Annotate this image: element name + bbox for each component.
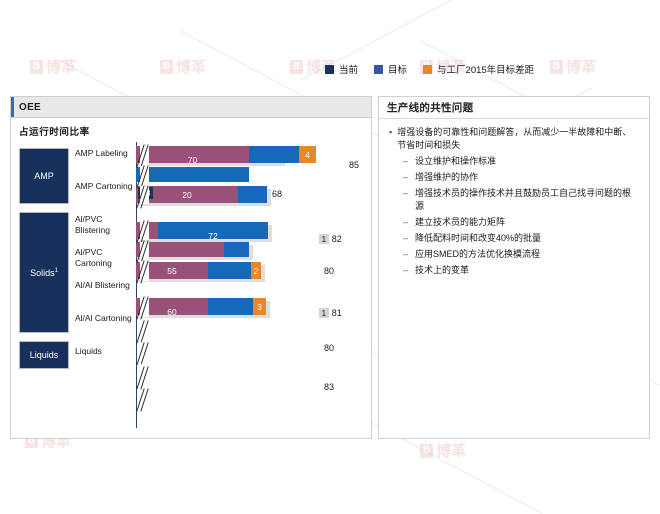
bullet-item-0: ▪ 增强设备的可靠性和问题解答，从而减少一半故障和中断、节省时间和损失 [389, 126, 639, 151]
bar-segment-target-2b [224, 242, 249, 257]
axis-break-8 [138, 344, 150, 364]
bar-total-value-6: 83 [324, 382, 334, 392]
category-label-0: AMP Labeling [75, 148, 133, 159]
legend-swatch-target [374, 65, 383, 74]
bar-segment-target-3 [208, 262, 251, 279]
bar-row-3: 55 2 [136, 262, 261, 279]
legend-item-gap: 与工厂2015年目标差距 [423, 62, 534, 76]
axis-break-7 [138, 322, 150, 342]
bullet-text-0: 增强设备的可靠性和问题解答，从而减少一半故障和中断、节省时间和损失 [397, 126, 639, 151]
axis-break-4 [138, 242, 150, 262]
axis-break-9 [138, 368, 150, 388]
bar-total-value-0: 85 [349, 160, 359, 170]
category-label-1: AMP Cartoning [75, 181, 133, 192]
bar-total-4: 181 [319, 308, 342, 318]
bullet-item-4: – 建立技术员的能力矩阵 [403, 216, 639, 229]
bullet-dash-icon: – [403, 232, 408, 245]
axis-break-3 [138, 222, 150, 242]
bullet-item-6: – 应用SMED的方法优化换模流程 [403, 248, 639, 261]
bar-value-current-1: 20 [182, 190, 191, 200]
bar-value-current-0: 70 [188, 155, 197, 165]
category-label-6: Liquids [75, 346, 133, 357]
bar-segment-target-0b [136, 167, 249, 182]
bullet-dash-icon: – [403, 216, 408, 229]
oee-chart-panel: OEE 占运行时间比率 AMP Solids1 Liquids AMP Labe… [10, 96, 372, 439]
issues-panel-header: 生产线的共性问题 [379, 97, 649, 119]
bar-value-gap-4: 3 [257, 302, 262, 312]
legend-label-current: 当前 [339, 62, 358, 76]
bullet-item-5: – 降低配料时间和改变40%的批量 [403, 232, 639, 245]
bar-row-2-current [136, 242, 249, 257]
bar-segment-gap-3: 2 [251, 262, 261, 279]
bar-row-4: 60 3 [136, 298, 266, 315]
oee-panel-header: OEE [11, 97, 371, 118]
issues-bullet-list: ▪ 增强设备的可靠性和问题解答，从而减少一半故障和中断、节省时间和损失 – 设立… [379, 119, 649, 276]
bullet-item-1: – 设立维护和操作标准 [403, 155, 639, 168]
bar-total-value-5: 80 [324, 343, 334, 353]
bullet-text-1: 设立维护和操作标准 [415, 155, 496, 168]
bar-row-0-target [136, 167, 249, 182]
bar-segment-target-2: 72 [158, 222, 268, 239]
plot-area: 70 4 85 [136, 142, 367, 432]
bullet-dash-icon: – [403, 155, 408, 168]
bar-value-gap-0: 4 [305, 150, 310, 160]
bar-segment-current-0: 70 [136, 146, 249, 163]
bullet-dash-icon: – [403, 171, 408, 184]
bar-total-value-4: 81 [332, 308, 342, 318]
bar-value-current-3: 55 [167, 266, 176, 276]
axis-break-6 [138, 298, 150, 318]
oee-panel-title: OEE [19, 102, 41, 113]
bar-total-value-2: 82 [332, 234, 342, 244]
legend-swatch-current [325, 65, 334, 74]
bullet-item-7: – 技术上的变革 [403, 264, 639, 277]
chart-legend: 当前 目标 与工厂2015年目标差距 [325, 62, 534, 76]
axis-break-5 [138, 262, 150, 282]
bar-total-mini-4: 1 [319, 308, 329, 318]
bar-row-1: 20 [136, 186, 267, 203]
legend-label-gap: 与工厂2015年目标差距 [437, 62, 534, 76]
bullet-dash-icon: – [403, 187, 408, 212]
bar-value-target-2: 72 [208, 231, 217, 241]
bullet-item-2: – 增强维护的协作 [403, 171, 639, 184]
oee-bar-chart: AMP Solids1 Liquids AMP Labeling AMP Car… [11, 142, 371, 432]
bar-segment-target-1 [238, 186, 267, 203]
bar-value-current-4: 60 [167, 307, 176, 317]
bar-total-0: 85 [349, 160, 359, 170]
bar-segment-target-0 [249, 146, 299, 163]
bullet-text-7: 技术上的变革 [415, 264, 469, 277]
bullet-text-5: 降低配料时间和改变40%的批量 [415, 232, 541, 245]
issues-panel-title: 生产线的共性问题 [387, 100, 473, 115]
bullet-text-3: 增强技术员的操作技术并且鼓励员工自己找寻问题的根源 [415, 187, 639, 212]
bullet-text-2: 增强维护的协作 [415, 171, 478, 184]
group-label-solids: Solids1 [30, 268, 58, 278]
axis-break-2 [138, 187, 150, 207]
group-label-liquids: Liquids [30, 350, 59, 360]
chart-subtitle: 占运行时间比率 [11, 118, 371, 138]
category-label-3: Al/PVC Cartoning [75, 247, 133, 268]
bullet-text-6: 应用SMED的方法优化换模流程 [415, 248, 540, 261]
category-label-2: Al/PVC Blistering [75, 214, 133, 235]
bar-total-value-1: 68 [272, 189, 282, 199]
legend-item-current: 当前 [325, 62, 358, 76]
bar-total-mini-2: 1 [319, 234, 329, 244]
bullet-item-3: – 增强技术员的操作技术并且鼓励员工自己找寻问题的根源 [403, 187, 639, 212]
bar-total-2: 182 [319, 234, 342, 244]
category-column: AMP Labeling AMP Cartoning Al/PVC Bliste… [75, 142, 133, 432]
category-label-5: Al/Al Cartoning [75, 313, 133, 324]
group-box-solids: Solids1 [19, 212, 69, 333]
group-column: AMP Solids1 Liquids [19, 142, 69, 432]
common-issues-panel: 生产线的共性问题 ▪ 增强设备的可靠性和问题解答，从而减少一半故障和中断、节省时… [378, 96, 650, 439]
category-label-4: Al/Al Blistering [75, 280, 133, 291]
legend-item-target: 目标 [374, 62, 407, 76]
bar-value-gap-3: 2 [254, 266, 259, 276]
axis-break-10 [138, 390, 150, 410]
bar-total-3: 80 [324, 266, 334, 276]
group-box-amp: AMP [19, 148, 69, 204]
group-label-amp: AMP [34, 171, 54, 181]
bar-segment-gap-4: 3 [253, 298, 266, 315]
group-box-liquids: Liquids [19, 341, 69, 369]
bar-total-1: 68 [272, 189, 282, 199]
axis-break-0 [138, 146, 150, 166]
bar-total-5: 80 [324, 343, 334, 353]
bullet-dot-icon: ▪ [389, 126, 392, 151]
bullet-dash-icon: – [403, 264, 408, 277]
bar-row-2: 72 [136, 222, 268, 239]
bar-total-6: 83 [324, 382, 334, 392]
bar-row-0: 70 4 [136, 146, 281, 163]
bullet-text-4: 建立技术员的能力矩阵 [415, 216, 505, 229]
bullet-dash-icon: – [403, 248, 408, 261]
bar-segment-gap-0: 4 [299, 146, 316, 163]
legend-swatch-gap [423, 65, 432, 74]
legend-label-target: 目标 [388, 62, 407, 76]
axis-break-1 [138, 167, 150, 187]
bar-segment-target-4 [208, 298, 253, 315]
bar-total-value-3: 80 [324, 266, 334, 276]
